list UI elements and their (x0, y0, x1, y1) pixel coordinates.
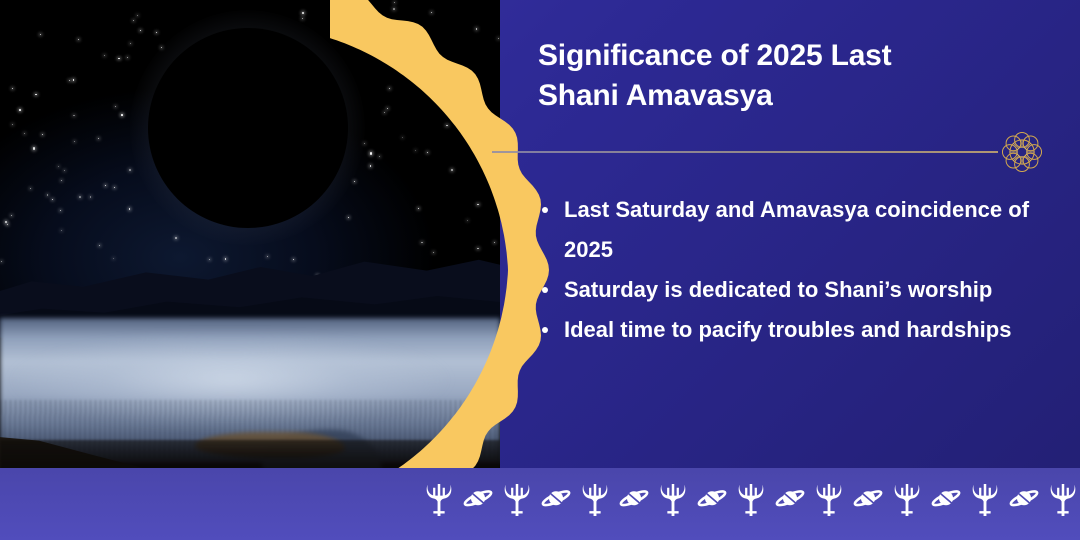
star (115, 106, 116, 107)
star (1, 261, 2, 262)
star (389, 88, 390, 89)
star (42, 134, 43, 135)
saturn-icon (775, 482, 805, 516)
saturn-icon (1009, 482, 1039, 516)
star (385, 51, 386, 52)
trident-icon (580, 482, 610, 516)
star (341, 24, 342, 25)
trident-icon (892, 482, 922, 516)
star (129, 208, 131, 210)
star (130, 43, 131, 44)
slide-canvas: Significance of 2025 Last Shani Amavasya (0, 0, 1080, 540)
star (5, 221, 7, 223)
star (74, 141, 75, 142)
star (427, 152, 428, 153)
bottom-icon-strip (0, 468, 1080, 540)
star (414, 35, 415, 36)
star (477, 248, 479, 250)
star (58, 166, 59, 167)
trident-icon (424, 482, 454, 516)
saturn-icon (931, 482, 961, 516)
star (12, 88, 13, 89)
star (113, 258, 114, 259)
star (394, 2, 395, 3)
star (33, 147, 35, 149)
star (267, 256, 269, 258)
star (379, 156, 380, 157)
trident-icon (502, 482, 532, 516)
star (346, 21, 347, 22)
star (209, 259, 211, 261)
star (402, 137, 404, 139)
title-divider-rule (492, 151, 998, 153)
star (387, 108, 388, 109)
star (11, 215, 12, 216)
star (418, 208, 420, 210)
star (446, 125, 448, 127)
content-panel: Significance of 2025 Last Shani Amavasya (500, 0, 1080, 540)
star (69, 80, 70, 81)
bullet-list: Last Saturday and Amavasya coincidence o… (532, 190, 1032, 350)
bullet-item: Last Saturday and Amavasya coincidence o… (532, 190, 1032, 270)
star (98, 138, 99, 139)
star (137, 15, 138, 16)
star (225, 258, 227, 260)
trident-icon (658, 482, 688, 516)
star (79, 196, 81, 198)
star (364, 143, 365, 144)
star (476, 28, 478, 30)
star (494, 242, 495, 243)
saturn-icon (697, 482, 727, 516)
star (47, 194, 49, 196)
saturn-icon (853, 482, 883, 516)
page-title: Significance of 2025 Last Shani Amavasya (538, 36, 978, 116)
bullet-item: Saturday is dedicated to Shani’s worship (532, 270, 1032, 310)
star (370, 165, 372, 167)
star (127, 57, 128, 58)
star (121, 114, 123, 116)
eclipse-landscape-photo (0, 0, 500, 540)
star (7, 224, 8, 225)
gold-mandala-rosette-icon (995, 125, 1049, 179)
star (350, 38, 351, 39)
star (19, 109, 21, 111)
star (90, 196, 92, 198)
star (431, 12, 433, 14)
star (421, 242, 423, 244)
star (140, 30, 141, 31)
star (73, 115, 75, 117)
bullet-item: Ideal time to pacify troubles and hardsh… (532, 310, 1032, 350)
star (129, 169, 131, 171)
star (118, 58, 120, 60)
star (12, 124, 13, 125)
star (451, 169, 453, 171)
star (384, 112, 385, 113)
star (423, 72, 425, 74)
star (467, 220, 468, 221)
icon-row (424, 482, 1080, 516)
star (105, 185, 106, 186)
star (477, 204, 479, 206)
star (393, 8, 395, 10)
star (133, 20, 134, 21)
star (114, 187, 116, 189)
title-line-2: Shani Amavasya (538, 79, 773, 112)
star (61, 230, 62, 231)
star (370, 152, 372, 154)
star (24, 133, 25, 134)
star (64, 170, 65, 171)
star (348, 217, 349, 218)
star (78, 39, 79, 40)
trident-icon (1048, 482, 1078, 516)
star (52, 199, 53, 200)
saturn-icon (463, 482, 493, 516)
saturn-icon (619, 482, 649, 516)
star (354, 181, 356, 183)
star (156, 32, 157, 33)
saturn-icon (541, 482, 571, 516)
star (302, 18, 303, 19)
star (104, 55, 105, 56)
star (415, 150, 416, 151)
star (61, 180, 62, 181)
star (369, 50, 370, 51)
star (175, 237, 177, 239)
trident-icon (814, 482, 844, 516)
trident-icon (736, 482, 766, 516)
star (498, 38, 499, 39)
star (433, 252, 434, 253)
title-line-1: Significance of 2025 Last (538, 39, 891, 72)
star (40, 34, 41, 35)
star (293, 259, 294, 260)
star (73, 79, 75, 81)
star (99, 245, 100, 246)
star (60, 210, 61, 211)
trident-icon (970, 482, 1000, 516)
eclipse-moon-disc (148, 28, 348, 228)
star (30, 188, 31, 189)
star (302, 12, 304, 14)
star (480, 123, 481, 124)
star (35, 94, 37, 96)
